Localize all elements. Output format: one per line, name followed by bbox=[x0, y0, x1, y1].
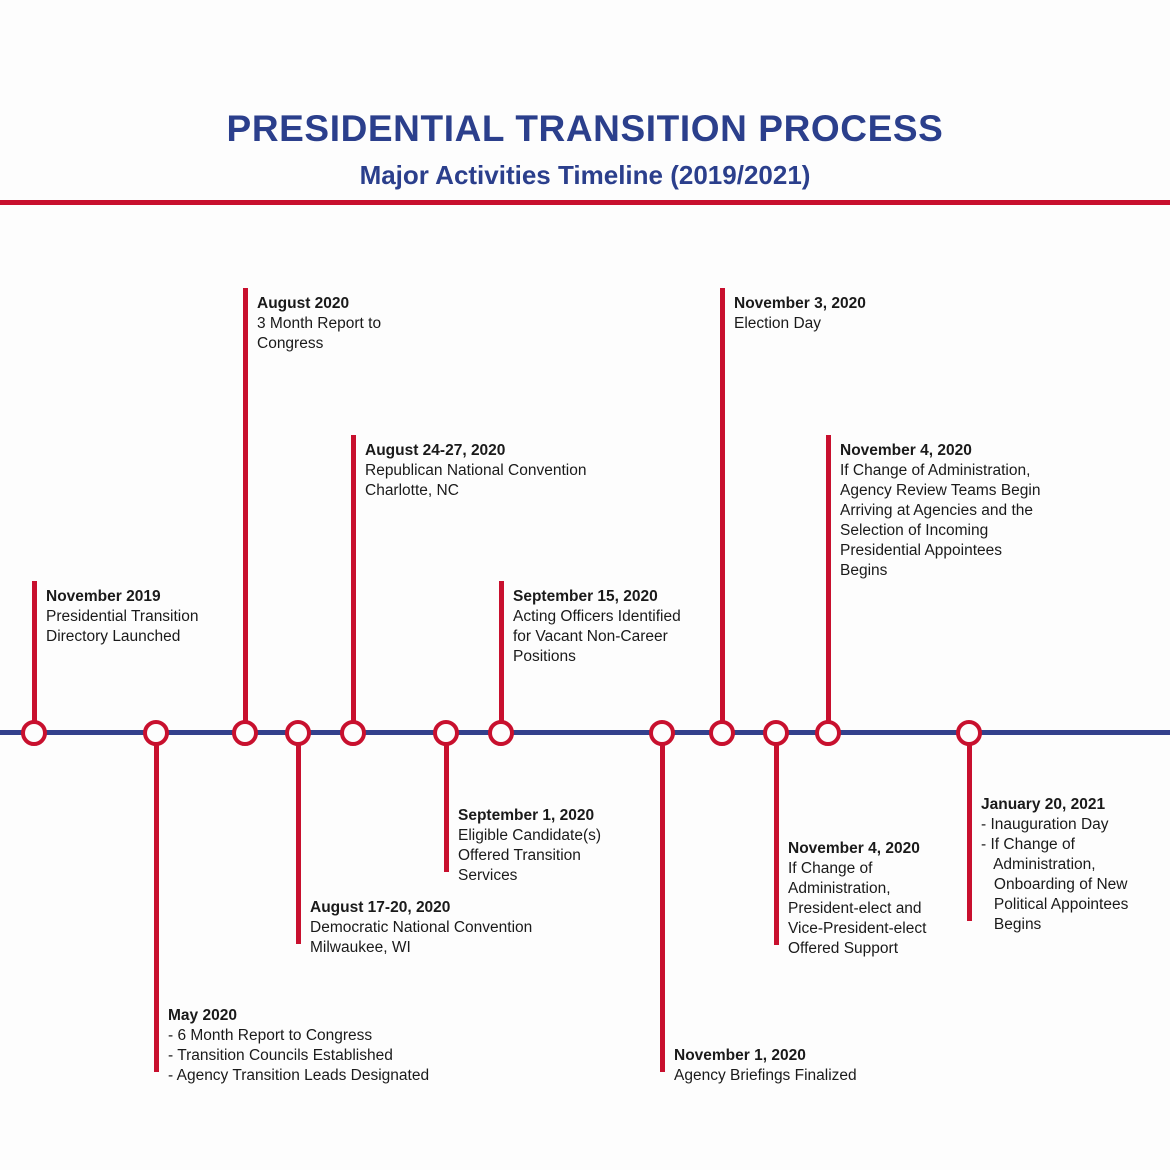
event-date: May 2020 bbox=[168, 1006, 429, 1026]
event-date: January 20, 2021 bbox=[981, 795, 1128, 815]
event-description: 3 Month Report toCongress bbox=[257, 314, 381, 354]
timeline-marker bbox=[21, 720, 47, 746]
event-description: If Change ofAdministration,President-ele… bbox=[788, 859, 926, 959]
event-date: September 1, 2020 bbox=[458, 806, 601, 826]
timeline-event-nov-3-2020: November 3, 2020Election Day bbox=[734, 294, 866, 334]
timeline-event-nov-2019: November 2019Presidential TransitionDire… bbox=[46, 587, 199, 647]
timeline-marker bbox=[340, 720, 366, 746]
event-line: Political Appointees bbox=[981, 895, 1128, 915]
event-line: 3 Month Report to bbox=[257, 314, 381, 334]
timeline-infographic: PRESIDENTIAL TRANSITION PROCESS Major Ac… bbox=[0, 0, 1170, 1170]
event-line: Directory Launched bbox=[46, 627, 199, 647]
timeline-stem bbox=[444, 742, 449, 873]
timeline-event-sep-1-2020: September 1, 2020Eligible Candidate(s)Of… bbox=[458, 806, 601, 886]
event-line: Acting Officers Identified bbox=[513, 607, 681, 627]
timeline-marker bbox=[956, 720, 982, 746]
event-line: Milwaukee, WI bbox=[310, 938, 532, 958]
timeline-stem bbox=[967, 742, 972, 922]
timeline-stem bbox=[720, 288, 725, 724]
timeline-stem bbox=[499, 581, 504, 724]
event-line: Begins bbox=[840, 561, 1040, 581]
timeline-marker bbox=[285, 720, 311, 746]
event-date: August 2020 bbox=[257, 294, 381, 314]
event-date: November 3, 2020 bbox=[734, 294, 866, 314]
timeline-marker bbox=[488, 720, 514, 746]
event-description: - 6 Month Report to Congress- Transition… bbox=[168, 1026, 429, 1086]
event-date: August 24-27, 2020 bbox=[365, 441, 586, 461]
event-line: If Change of bbox=[788, 859, 926, 879]
event-line: Presidential Appointees bbox=[840, 541, 1040, 561]
event-line: Republican National Convention bbox=[365, 461, 586, 481]
event-description: Election Day bbox=[734, 314, 866, 334]
timeline-stem bbox=[774, 742, 779, 946]
event-line: President-elect and bbox=[788, 899, 926, 919]
event-line: - If Change of bbox=[981, 835, 1128, 855]
event-line: Agency Review Teams Begin bbox=[840, 481, 1040, 501]
event-line: Positions bbox=[513, 647, 681, 667]
timeline-stem bbox=[296, 742, 301, 945]
event-date: August 17-20, 2020 bbox=[310, 898, 532, 918]
timeline-stem bbox=[154, 742, 159, 1073]
event-description: Eligible Candidate(s)Offered TransitionS… bbox=[458, 826, 601, 886]
page-subtitle: Major Activities Timeline (2019/2021) bbox=[0, 160, 1170, 191]
event-line: - Agency Transition Leads Designated bbox=[168, 1066, 429, 1086]
event-line: - Inauguration Day bbox=[981, 815, 1128, 835]
timeline-marker bbox=[815, 720, 841, 746]
event-line: Selection of Incoming bbox=[840, 521, 1040, 541]
event-date: September 15, 2020 bbox=[513, 587, 681, 607]
timeline-stem bbox=[351, 435, 356, 724]
timeline-event-nov-4-2020-review: November 4, 2020If Change of Administrat… bbox=[840, 441, 1040, 581]
event-line: If Change of Administration, bbox=[840, 461, 1040, 481]
event-date: November 1, 2020 bbox=[674, 1046, 857, 1066]
timeline-stem bbox=[32, 581, 37, 724]
event-line: Agency Briefings Finalized bbox=[674, 1066, 857, 1086]
header-divider bbox=[0, 200, 1170, 205]
event-date: November 4, 2020 bbox=[788, 839, 926, 859]
timeline-event-aug-24-27-2020: August 24-27, 2020Republican National Co… bbox=[365, 441, 586, 501]
event-line: Democratic National Convention bbox=[310, 918, 532, 938]
page-title: PRESIDENTIAL TRANSITION PROCESS bbox=[0, 108, 1170, 150]
timeline-marker bbox=[232, 720, 258, 746]
event-date: November 2019 bbox=[46, 587, 199, 607]
event-line: Onboarding of New bbox=[981, 875, 1128, 895]
timeline-event-may-2020: May 2020- 6 Month Report to Congress- Tr… bbox=[168, 1006, 429, 1086]
event-line: Presidential Transition bbox=[46, 607, 199, 627]
event-line: for Vacant Non-Career bbox=[513, 627, 681, 647]
timeline-stem bbox=[826, 435, 831, 724]
event-description: If Change of Administration,Agency Revie… bbox=[840, 461, 1040, 581]
event-line: Election Day bbox=[734, 314, 866, 334]
event-line: - 6 Month Report to Congress bbox=[168, 1026, 429, 1046]
event-line: Administration, bbox=[788, 879, 926, 899]
timeline-event-jan-20-2021: January 20, 2021- Inauguration Day- If C… bbox=[981, 795, 1128, 935]
timeline-marker bbox=[143, 720, 169, 746]
event-line: Services bbox=[458, 866, 601, 886]
event-line: Charlotte, NC bbox=[365, 481, 586, 501]
timeline-event-aug-2020: August 20203 Month Report toCongress bbox=[257, 294, 381, 354]
event-description: Presidential TransitionDirectory Launche… bbox=[46, 607, 199, 647]
timeline-marker bbox=[649, 720, 675, 746]
timeline-event-sep-15-2020: September 15, 2020Acting Officers Identi… bbox=[513, 587, 681, 667]
timeline-axis bbox=[0, 730, 1170, 735]
event-line: Arriving at Agencies and the bbox=[840, 501, 1040, 521]
event-line: Administration, bbox=[981, 855, 1128, 875]
header: PRESIDENTIAL TRANSITION PROCESS Major Ac… bbox=[0, 0, 1170, 205]
timeline-event-aug-17-20-2020: August 17-20, 2020Democratic National Co… bbox=[310, 898, 532, 958]
timeline-event-nov-4-2020-support: November 4, 2020If Change ofAdministrati… bbox=[788, 839, 926, 959]
timeline-marker bbox=[709, 720, 735, 746]
event-description: Agency Briefings Finalized bbox=[674, 1066, 857, 1086]
event-description: Republican National ConventionCharlotte,… bbox=[365, 461, 586, 501]
event-line: Vice-President-elect bbox=[788, 919, 926, 939]
event-description: - Inauguration Day- If Change of Adminis… bbox=[981, 815, 1128, 935]
event-description: Democratic National ConventionMilwaukee,… bbox=[310, 918, 532, 958]
timeline-marker bbox=[433, 720, 459, 746]
event-line: Eligible Candidate(s) bbox=[458, 826, 601, 846]
timeline-stem bbox=[660, 742, 665, 1073]
timeline-stem bbox=[243, 288, 248, 724]
event-line: Offered Support bbox=[788, 939, 926, 959]
event-line: Congress bbox=[257, 334, 381, 354]
timeline-event-nov-1-2020: November 1, 2020Agency Briefings Finaliz… bbox=[674, 1046, 857, 1086]
event-description: Acting Officers Identifiedfor Vacant Non… bbox=[513, 607, 681, 667]
event-date: November 4, 2020 bbox=[840, 441, 1040, 461]
timeline-marker bbox=[763, 720, 789, 746]
event-line: Offered Transition bbox=[458, 846, 601, 866]
event-line: - Transition Councils Established bbox=[168, 1046, 429, 1066]
event-line: Begins bbox=[981, 915, 1128, 935]
